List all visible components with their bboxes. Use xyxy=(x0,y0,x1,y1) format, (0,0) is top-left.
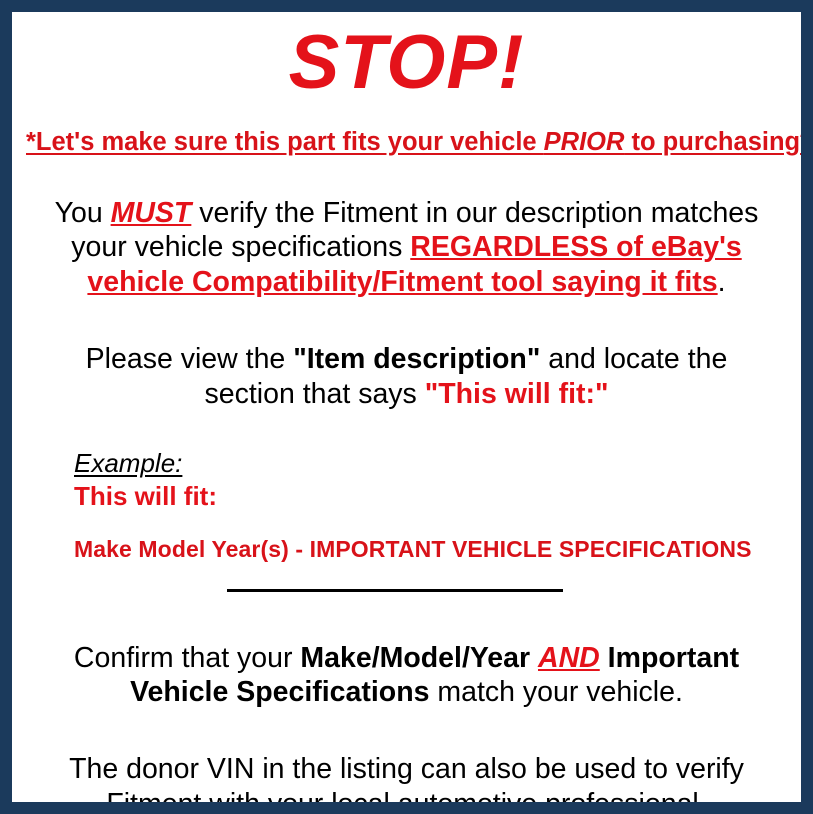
fitment-notice-card: STOP! *Let's make sure this part fits yo… xyxy=(0,0,813,814)
must-text-1: You xyxy=(55,197,111,229)
example-fit-heading: This will fit: xyxy=(74,481,787,512)
section-divider xyxy=(26,589,787,601)
confirm-paragraph: Confirm that your Make/Model/Year AND Im… xyxy=(26,641,787,711)
must-verify-paragraph: You MUST verify the Fitment in our descr… xyxy=(26,196,787,300)
and-emphasis: AND xyxy=(538,642,600,674)
stop-headline: STOP! xyxy=(26,24,787,102)
make-model-year-emphasis: Make/Model/Year xyxy=(300,642,530,674)
example-label: Example: xyxy=(74,449,787,478)
divider-rule xyxy=(227,589,563,592)
confirm-text-3: match your vehicle. xyxy=(429,676,682,708)
example-block: Example: This will fit: Make Model Year(… xyxy=(26,449,787,562)
itemdesc-text-1: Please view the xyxy=(86,343,294,375)
must-text-3: . xyxy=(718,266,726,298)
item-description-paragraph: Please view the "Item description" and l… xyxy=(26,342,787,412)
notice-content: STOP! *Let's make sure this part fits yo… xyxy=(12,12,801,802)
must-emphasis: MUST xyxy=(111,197,192,229)
subtitle-banner: *Let's make sure this part fits your veh… xyxy=(26,128,787,156)
item-description-label: "Item description" xyxy=(293,343,540,375)
subtitle-before: *Let's make sure this part fits your veh… xyxy=(26,128,544,156)
example-spec-line: Make Model Year(s) - IMPORTANT VEHICLE S… xyxy=(74,536,787,563)
this-will-fit-quote: "This will fit:" xyxy=(425,378,609,410)
subtitle-prior-emphasis: PRIOR xyxy=(544,128,625,156)
subtitle-after: to purchasing* xyxy=(624,128,810,156)
donor-vin-paragraph: The donor VIN in the listing can also be… xyxy=(26,752,787,814)
confirm-text-1: Confirm that your xyxy=(74,642,301,674)
